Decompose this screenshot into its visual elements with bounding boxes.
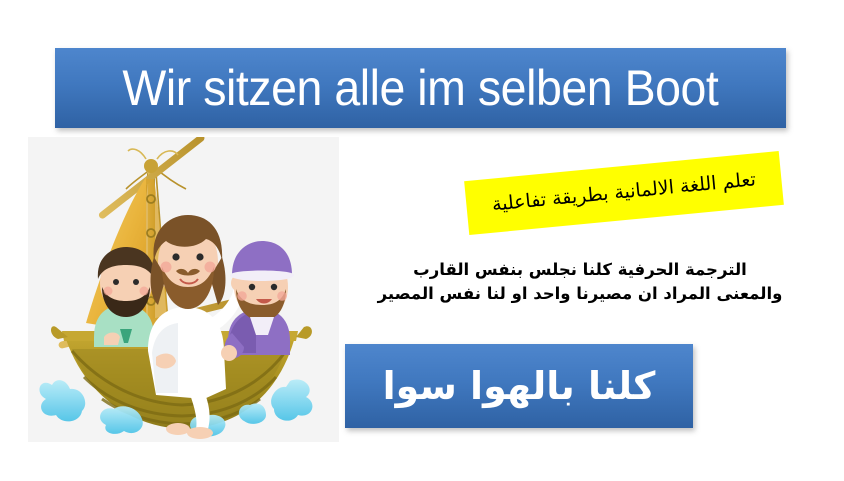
title-banner: Wir sitzen alle im selben Boot [55,48,786,128]
boat-illustration-image [28,137,339,442]
tagline-text: تعلم اللغة الالمانية بطريقة تفاعلية [491,168,757,219]
phrase-banner: كلنا بالهوا سوا [345,344,693,428]
phrase-text: كلنا بالهوا سوا [383,367,656,405]
disciple-left-figure [94,247,154,347]
explanation-block: الترجمة الحرفية كلنا نجلس بنفس القارب وا… [340,258,820,306]
illustration-panel [28,137,339,442]
tagline-highlight-box: تعلم اللغة الالمانية بطريقة تفاعلية [464,151,784,235]
explanation-line-meaning: والمعنى المراد ان مصيرنا واحد او لنا نفس… [340,282,820,306]
slide-canvas: Wir sitzen alle im selben Boot [0,0,844,481]
explanation-line-literal: الترجمة الحرفية كلنا نجلس بنفس القارب [340,258,820,282]
page-title: Wir sitzen alle im selben Boot [123,63,719,113]
